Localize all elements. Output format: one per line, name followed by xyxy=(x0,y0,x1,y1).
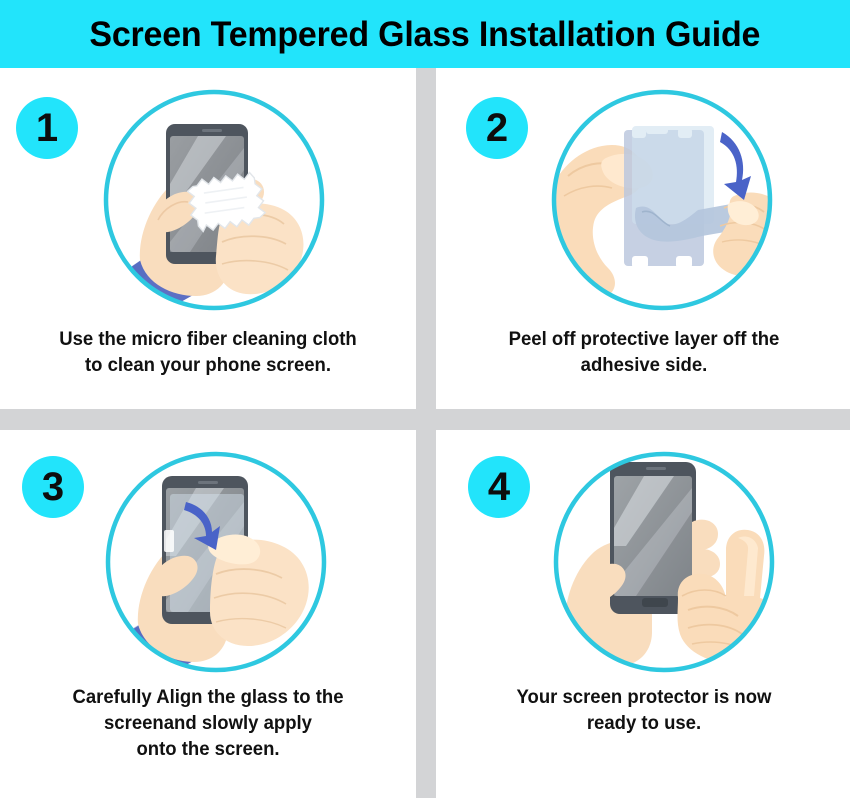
step-number-badge-4: 4 xyxy=(468,456,530,518)
caption-line: Peel off protective layer off the xyxy=(446,326,841,352)
step-number-badge-2: 2 xyxy=(466,97,528,159)
caption-line: screenand slowly apply xyxy=(10,710,405,736)
step-caption-3: Carefully Align the glass to the screena… xyxy=(10,684,405,762)
caption-line: Your screen protector is now xyxy=(446,684,841,710)
vertical-divider xyxy=(416,68,436,798)
step-caption-4: Your screen protector is now ready to us… xyxy=(446,684,841,736)
step-panel-2: 2 xyxy=(436,68,850,409)
step-panel-1: 1 xyxy=(0,68,416,409)
step-number-badge-1: 1 xyxy=(16,97,78,159)
caption-line: onto the screen. xyxy=(10,736,405,762)
step-caption-1: Use the micro fiber cleaning cloth to cl… xyxy=(10,326,405,378)
step-panel-4: 4 xyxy=(436,430,850,798)
installation-guide-poster: Screen Tempered Glass Installation Guide… xyxy=(0,0,850,798)
hands-peeling-film-icon xyxy=(546,84,778,316)
hand-aligning-glass-on-phone-icon xyxy=(100,446,332,678)
horizontal-divider xyxy=(0,409,850,430)
caption-line: adhesive side. xyxy=(446,352,841,378)
caption-line: ready to use. xyxy=(446,710,841,736)
header-bar: Screen Tempered Glass Installation Guide xyxy=(0,0,850,68)
hand-holding-phone-with-cloth-icon xyxy=(98,84,330,316)
step-caption-2: Peel off protective layer off the adhesi… xyxy=(446,326,841,378)
hand-holding-phone-thumbs-up-icon xyxy=(548,446,780,678)
caption-line: to clean your phone screen. xyxy=(10,352,405,378)
page-title: Screen Tempered Glass Installation Guide xyxy=(90,17,761,52)
step-number-badge-3: 3 xyxy=(22,456,84,518)
caption-line: Use the micro fiber cleaning cloth xyxy=(10,326,405,352)
caption-line: Carefully Align the glass to the xyxy=(10,684,405,710)
step-panel-3: 3 xyxy=(0,430,416,798)
